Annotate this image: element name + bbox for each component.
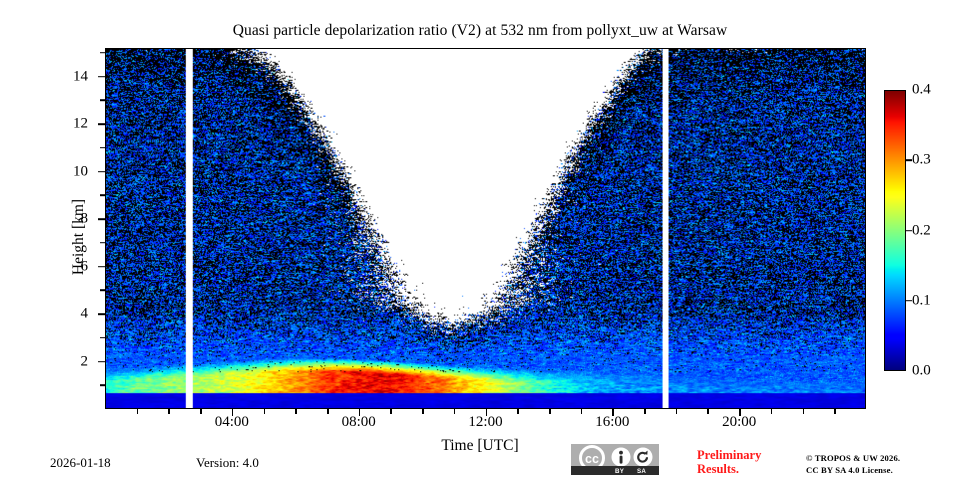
x-tick-label: 16:00 [595,414,629,431]
colorbar-tick-label: 0.2 [912,222,931,239]
colorbar-tick-label: 0.4 [912,82,931,99]
x-tick-label: 20:00 [722,414,756,431]
x-minor-tick-mark [295,409,297,414]
x-minor-tick-mark [200,409,202,414]
x-minor-tick-mark [168,409,170,414]
x-minor-tick-mark [549,409,551,414]
x-minor-tick-mark [454,409,456,414]
y-minor-tick-mark [100,384,105,386]
x-minor-tick-mark [327,409,329,414]
figure-date: 2026-01-18 [50,455,111,471]
colorbar [884,90,906,371]
y-tick-mark [98,313,105,315]
y-tick-label: 2 [81,353,89,370]
copyright-note: © TROPOS & UW 2026. CC BY SA 4.0 License… [806,452,900,477]
copyright-line-1: © TROPOS & UW 2026. [806,452,900,464]
x-minor-tick-mark [137,409,139,414]
preliminary-line-1: Preliminary [697,448,792,462]
x-minor-tick-mark [644,409,646,414]
preliminary-results-note: Preliminary Results. [697,448,792,476]
colorbar-gradient [885,91,905,370]
y-tick-mark [98,171,105,173]
copyright-line-2: CC BY SA 4.0 License. [806,464,900,476]
y-tick-mark [98,76,105,78]
x-minor-tick-mark [581,409,583,414]
y-tick-mark [98,361,105,363]
y-axis-label: Height [km] [70,147,88,327]
y-minor-tick-mark [100,52,105,54]
x-minor-tick-mark [264,409,266,414]
x-minor-tick-mark [422,409,424,414]
preliminary-line-2: Results. [697,462,792,476]
cc-sa-label: SA [637,468,646,475]
y-tick-label: 14 [73,68,88,85]
colorbar-tick-label: 0.0 [912,363,931,380]
x-minor-tick-mark [517,409,519,414]
colorbar-tick-label: 0.1 [912,292,931,309]
x-tick-label: 08:00 [342,414,376,431]
heatmap-plot-area [105,48,866,409]
y-minor-tick-mark [100,337,105,339]
y-tick-mark [98,266,105,268]
y-tick-label: 12 [73,116,88,133]
version-label: Version: 4.0 [196,455,259,471]
cc-license-badge[interactable]: cc BY SA [571,444,659,475]
y-minor-tick-mark [100,99,105,101]
x-minor-tick-mark [676,409,678,414]
x-minor-tick-mark [803,409,805,414]
cc-by-label: BY [615,468,624,475]
x-minor-tick-mark [390,409,392,414]
x-minor-tick-mark [707,409,709,414]
y-tick-mark [98,218,105,220]
x-tick-label: 12:00 [468,414,502,431]
page-title: Quasi particle depolarization ratio (V2)… [0,22,960,40]
y-minor-tick-mark [100,242,105,244]
y-minor-tick-mark [100,289,105,291]
y-tick-mark [98,123,105,125]
depolarization-heatmap-canvas [106,49,865,408]
x-minor-tick-mark [834,409,836,414]
colorbar-tick-label: 0.3 [912,152,931,169]
svg-text:cc: cc [585,452,599,466]
y-minor-tick-mark [100,194,105,196]
x-minor-tick-mark [771,409,773,414]
lidar-quicklook-figure: Quasi particle depolarization ratio (V2)… [0,0,960,480]
x-tick-label: 04:00 [215,414,249,431]
y-minor-tick-mark [100,147,105,149]
